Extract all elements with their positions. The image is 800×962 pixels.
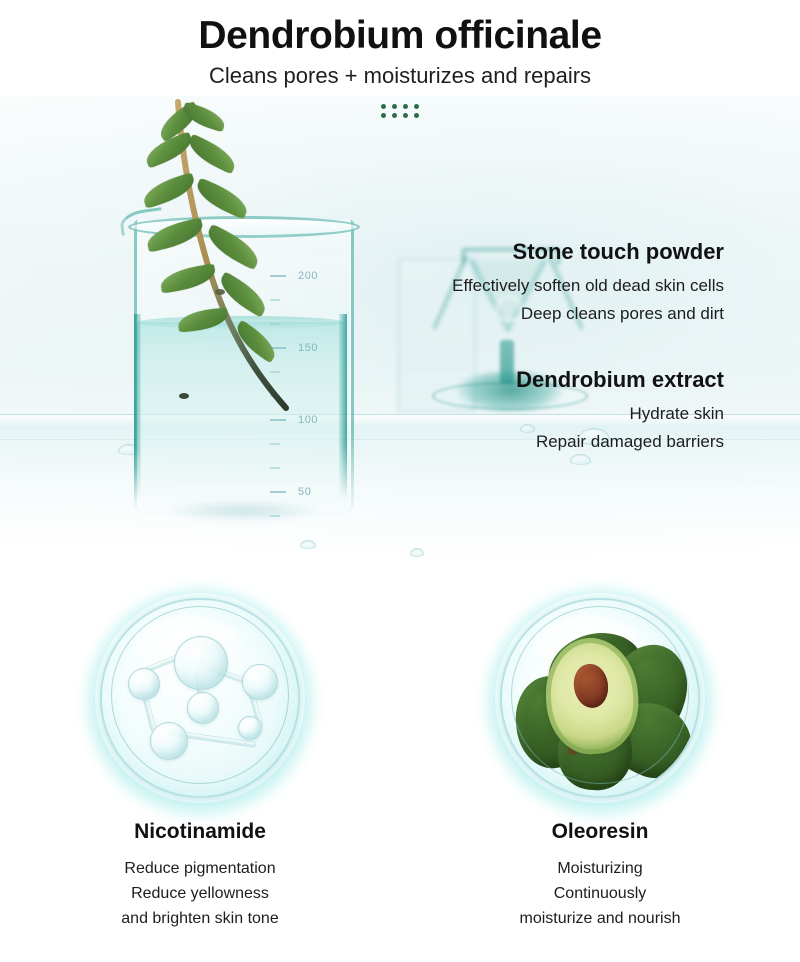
card-line: Continuously: [400, 881, 800, 906]
water-droplet: [300, 540, 316, 549]
header: Dendrobium officinale Cleans pores + moi…: [0, 0, 800, 130]
graduation-label: 50: [298, 486, 311, 498]
graduation-label: 100: [298, 414, 318, 426]
molecule-petri-dish-icon: [100, 598, 300, 798]
dendrobium-plant-icon: [120, 96, 300, 468]
page-subtitle: Cleans pores + moisturizes and repairs: [0, 58, 800, 90]
ingredient-block-stone-touch-powder: Stone touch powder Effectively soften ol…: [452, 238, 724, 328]
card-title: Oleoresin: [400, 819, 800, 845]
hero-copy: Stone touch powder Effectively soften ol…: [400, 96, 800, 566]
molecule-node: [187, 692, 219, 724]
hero-section: 200 150 100 50: [0, 96, 800, 566]
graduation-label: 200: [298, 270, 318, 282]
block-line: Repair damaged barriers: [516, 428, 724, 456]
molecule-node: [242, 664, 278, 700]
card-line: Moisturizing: [400, 856, 800, 881]
card-line: Reduce yellowness: [0, 881, 400, 906]
ingredient-card-nicotinamide: Nicotinamide Reduce pigmentation Reduce …: [0, 566, 400, 962]
avocado-bowl-icon: [500, 598, 700, 798]
page-title: Dendrobium officinale: [0, 0, 800, 58]
card-title: Nicotinamide: [0, 819, 400, 845]
card-description: Moisturizing Continuously moisturize and…: [400, 856, 800, 931]
molecule-node: [238, 716, 262, 740]
infographic-page: Dendrobium officinale Cleans pores + moi…: [0, 0, 800, 962]
molecule-node: [174, 636, 228, 690]
molecule-node: [150, 722, 188, 760]
card-line: moisturize and nourish: [400, 906, 800, 931]
block-line: Effectively soften old dead skin cells: [452, 272, 724, 300]
card-line: Reduce pigmentation: [0, 856, 400, 881]
ingredient-block-dendrobium-extract: Dendrobium extract Hydrate skin Repair d…: [516, 366, 724, 456]
dot-separator-icon: [378, 102, 422, 120]
block-heading: Dendrobium extract: [516, 366, 724, 394]
block-line: Hydrate skin: [516, 400, 724, 428]
ingredient-cards: Nicotinamide Reduce pigmentation Reduce …: [0, 566, 800, 962]
ingredient-card-oleoresin: Oleoresin Moisturizing Continuously mois…: [400, 566, 800, 962]
card-description: Reduce pigmentation Reduce yellowness an…: [0, 856, 400, 931]
block-line: Deep cleans pores and dirt: [452, 300, 724, 328]
graduation-label: 150: [298, 342, 318, 354]
block-heading: Stone touch powder: [452, 238, 724, 266]
molecule-node: [128, 668, 160, 700]
molecule-diagram: [102, 600, 298, 796]
card-line: and brighten skin tone: [0, 906, 400, 931]
